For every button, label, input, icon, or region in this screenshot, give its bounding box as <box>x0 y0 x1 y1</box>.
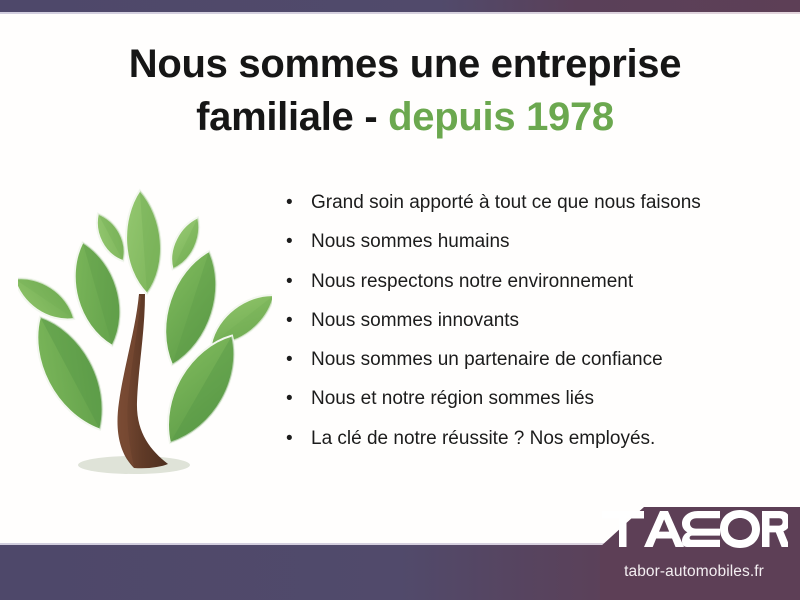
tabor-logo-wordmark[interactable] <box>600 509 788 549</box>
list-item: •Nous respectons notre environnement <box>283 271 783 294</box>
tabor-logo-tagline[interactable]: tabor-automobiles.fr <box>600 563 788 581</box>
list-item-label: Nous sommes un partenaire de confiance <box>311 349 663 370</box>
bullet-marker: • <box>286 349 293 372</box>
list-item-label: La clé de notre réussite ? Nos employés. <box>311 428 655 449</box>
top-band-hairline <box>0 12 800 14</box>
page-title-line-2-plain: familiale - <box>196 95 388 139</box>
page-title-line-1: Nous sommes une entreprise <box>129 42 681 86</box>
bullet-marker: • <box>286 428 293 451</box>
value-proposition-list: •Grand soin apporté à tout ce que nous f… <box>283 192 783 467</box>
bullet-marker: • <box>286 231 293 254</box>
tree-leaves <box>18 189 272 455</box>
bullet-marker: • <box>286 388 293 411</box>
list-item: •Nous sommes un partenaire de confiance <box>283 349 783 372</box>
list-item: •Nous et notre région sommes liés <box>283 388 783 411</box>
top-decorative-band <box>0 0 800 12</box>
list-item-label: Nous sommes humains <box>311 231 510 252</box>
list-item-label: Grand soin apporté à tout ce que nous fa… <box>311 192 701 213</box>
list-item: •Grand soin apporté à tout ce que nous f… <box>283 192 783 215</box>
bullet-marker: • <box>286 271 293 294</box>
page-title-accent: depuis 1978 <box>388 95 614 139</box>
list-item-label: Nous sommes innovants <box>311 310 519 331</box>
list-item: •Nous sommes humains <box>283 231 783 254</box>
list-item: •Nous sommes innovants <box>283 310 783 333</box>
page-title: Nous sommes une entreprise familiale - d… <box>60 38 750 144</box>
slide-canvas: Nous sommes une entreprise familiale - d… <box>0 0 800 600</box>
list-item-label: Nous et notre région sommes liés <box>311 388 594 409</box>
bullet-marker: • <box>286 310 293 333</box>
bullet-marker: • <box>286 192 293 215</box>
list-item-label: Nous respectons notre environnement <box>311 271 633 292</box>
tree-illustration <box>18 188 272 488</box>
list-item: •La clé de notre réussite ? Nos employés… <box>283 428 783 451</box>
